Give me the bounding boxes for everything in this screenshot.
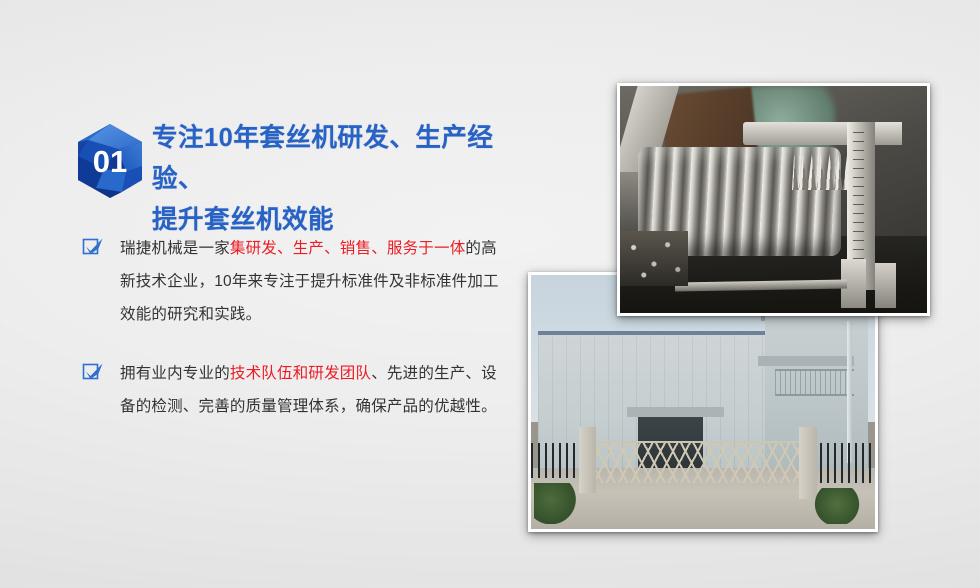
list-item-text: 拥有业内专业的技术队伍和研发团队、先进的生产、设备的检测、完善的质量管理体系，确… xyxy=(120,357,512,423)
balcony-railing xyxy=(775,369,854,396)
text-segment: 瑞捷机械是一家 xyxy=(120,240,230,257)
check-square-icon xyxy=(82,362,102,382)
step-number-text: 01 xyxy=(93,144,127,179)
feature-bullet-list: 瑞捷机械是一家集研发、生产、销售、服务于一体的高新技术企业，10年来专注于提升标… xyxy=(82,232,512,449)
text-segment-highlight: 技术队伍和研发团队 xyxy=(230,365,371,382)
text-segment-highlight: 集研发、生产、销售、服务于一体 xyxy=(230,240,466,257)
sliding-gate xyxy=(589,441,806,484)
door-awning xyxy=(627,407,723,417)
headline-line-1: 专注10年套丝机研发、生产经验、 xyxy=(152,124,493,193)
step-number-badge: 01 xyxy=(74,122,146,200)
caliper-jaw-lower-2 xyxy=(875,263,896,308)
shrub-right xyxy=(813,488,861,524)
text-segment: 拥有业内专业的 xyxy=(120,365,230,382)
shrub-left xyxy=(534,483,575,524)
metal-chips xyxy=(620,231,688,285)
gate-pillar-left xyxy=(579,427,596,493)
list-item: 拥有业内专业的技术队伍和研发团队、先进的生产、设备的检测、完善的质量管理体系，确… xyxy=(82,357,512,423)
check-square-icon xyxy=(82,237,102,257)
list-item-text: 瑞捷机械是一家集研发、生产、销售、服务于一体的高新技术企业，10年来专注于提升标… xyxy=(120,232,512,331)
headline-line-2: 提升套丝机效能 xyxy=(152,206,334,234)
feature-banner: 01 专注10年套丝机研发、生产经验、提升套丝机效能 瑞捷机械是一家集研发、生产… xyxy=(0,0,980,588)
balcony-canopy xyxy=(758,356,854,366)
threaded-rod-photo xyxy=(617,83,930,316)
caliper-jaw-top xyxy=(875,122,903,145)
list-item: 瑞捷机械是一家集研发、生产、销售、服务于一体的高新技术企业，10年来专注于提升标… xyxy=(82,232,512,331)
threading-scene xyxy=(620,86,927,313)
iron-fence-right xyxy=(806,443,875,484)
headline-row: 01 专注10年套丝机研发、生产经验、提升套丝机效能 xyxy=(74,118,524,241)
drain-pipe xyxy=(847,321,852,463)
content-column: 01 专注10年套丝机研发、生产经验、提升套丝机效能 瑞捷机械是一家集研发、生产… xyxy=(0,0,540,588)
